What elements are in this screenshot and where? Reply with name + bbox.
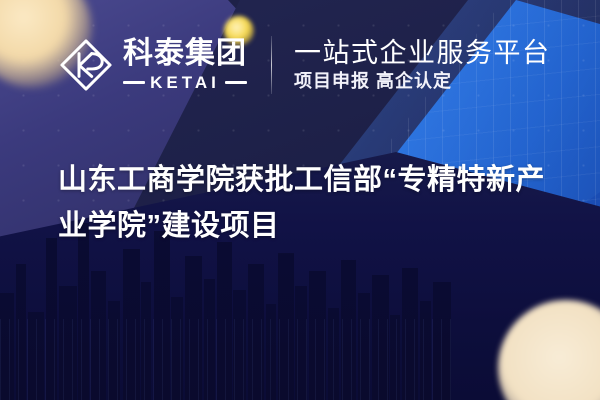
brand-name-en-row: KETAI: [123, 74, 247, 91]
banner-header: 科泰集团 KETAI 一站式企业服务平台 项目申报 高企认定: [0, 36, 600, 94]
tagline-block: 一站式企业服务平台 项目申报 高企认定: [294, 39, 551, 92]
brand-wordmark: 科泰集团 KETAI: [123, 39, 247, 91]
brand-logo[interactable]: 科泰集团 KETAI: [58, 37, 247, 93]
header-divider: [271, 36, 272, 94]
wordmark-dash-right: [225, 81, 247, 84]
wordmark-dash-left: [123, 81, 145, 84]
promo-banner: 科泰集团 KETAI 一站式企业服务平台 项目申报 高企认定 山东工商学院获批工…: [0, 0, 600, 400]
tagline-sub: 项目申报 高企认定: [294, 72, 551, 92]
page-title: 山东工商学院获批工信部“专精特新产业学院”建设项目: [58, 158, 558, 250]
brand-name-cn: 科泰集团: [123, 39, 247, 69]
tagline-main: 一站式企业服务平台: [294, 39, 551, 68]
brand-name-en: KETAI: [150, 74, 220, 91]
ketai-diamond-monogram-icon: [58, 37, 114, 93]
